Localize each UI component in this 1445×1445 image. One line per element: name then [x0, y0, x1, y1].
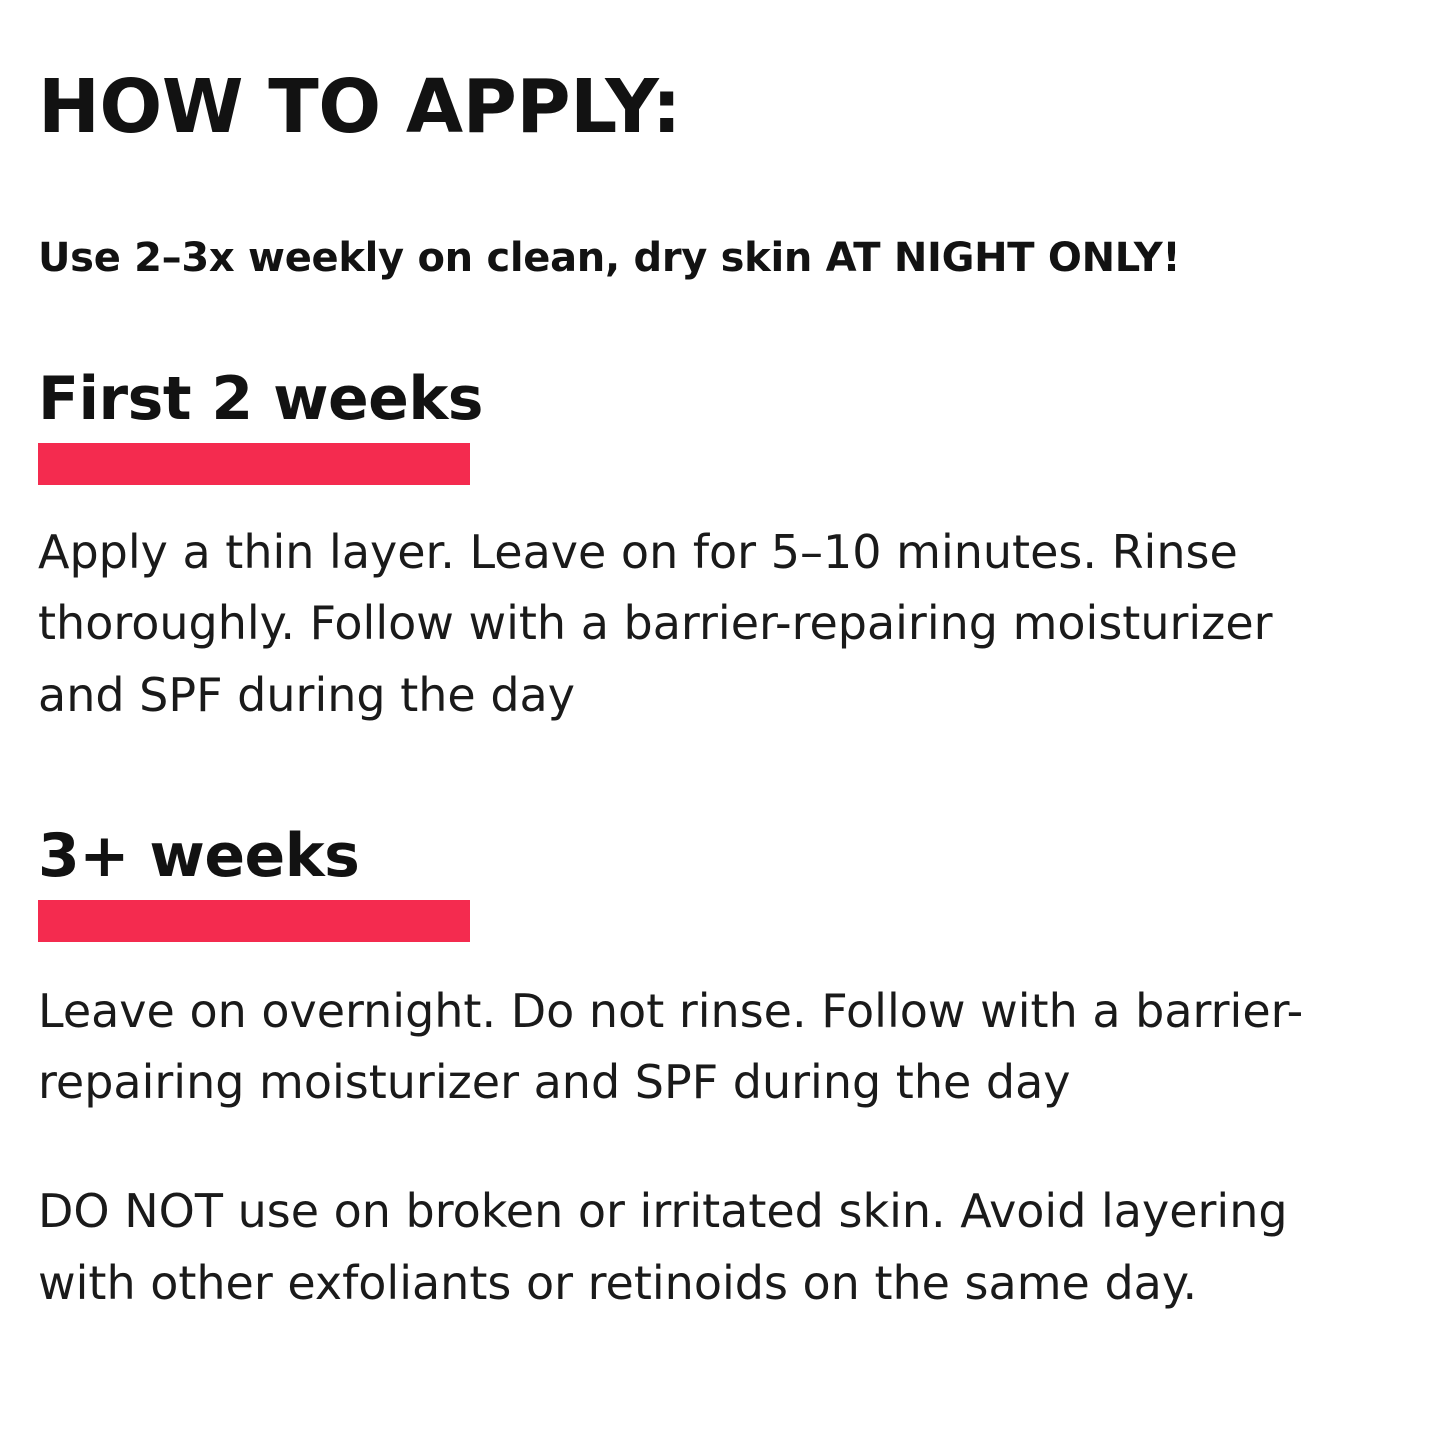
page-title: HOW TO APPLY: [38, 0, 1407, 144]
section-body-first-2-weeks: Apply a thin layer. Leave on for 5–10 mi… [38, 485, 1368, 731]
section-3-plus-weeks: 3+ weeks Leave on overnight. Do not rins… [38, 731, 1407, 1119]
how-to-apply-card: HOW TO APPLY: Use 2–3x weekly on clean, … [0, 0, 1445, 1445]
section-heading-3-plus-weeks: 3+ weeks [38, 825, 1407, 888]
warning-text: DO NOT use on broken or irritated skin. … [38, 1118, 1378, 1319]
accent-rule-bar [38, 900, 470, 942]
usage-frequency-note: Use 2–3x weekly on clean, dry skin AT NI… [38, 144, 1407, 280]
section-first-2-weeks: First 2 weeks Apply a thin layer. Leave … [38, 280, 1407, 731]
section-heading-first-2-weeks: First 2 weeks [38, 368, 1407, 431]
section-body-3-plus-weeks: Leave on overnight. Do not rinse. Follow… [38, 942, 1368, 1119]
accent-rule-bar [38, 443, 470, 485]
